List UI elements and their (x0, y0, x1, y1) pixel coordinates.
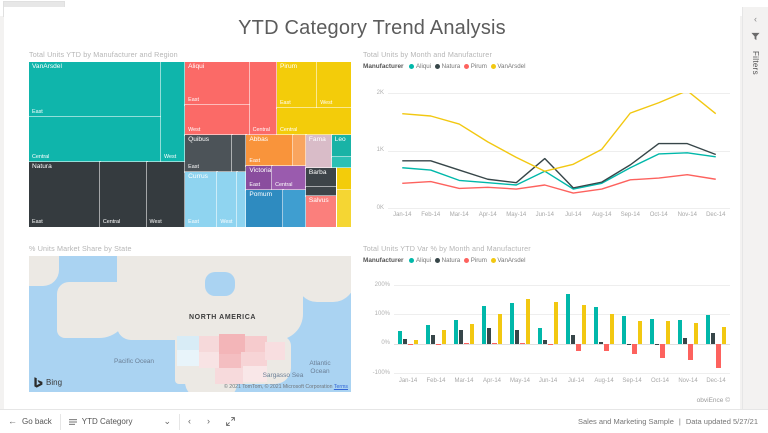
treemap-cell-label: Salvus (309, 197, 329, 205)
legend-color-swatch (491, 64, 496, 69)
bing-icon (34, 377, 43, 388)
treemap-cell[interactable]: Central (29, 117, 161, 162)
bar-pirum[interactable] (492, 343, 496, 344)
bar-vanarsdel[interactable] (470, 324, 474, 344)
x-axis-tick-label: Dec-14 (700, 211, 732, 219)
map-label-pacific: Pacific Ocean (113, 358, 155, 366)
bar-chart-legend[interactable]: ManufacturerAliquiNaturaPirumVanArsdel (363, 257, 525, 264)
legend-label: Natura (442, 257, 461, 264)
y-axis-tick-label: 0K (362, 205, 384, 212)
legend-title: Manufacturer (363, 257, 403, 264)
bing-label: Bing (46, 378, 62, 387)
bar-natura[interactable] (571, 335, 575, 344)
bar-vanarsdel[interactable] (722, 327, 726, 343)
page-selector[interactable]: YTD Category ⌄ (61, 410, 179, 433)
treemap-cell-region: West (164, 154, 176, 161)
bar-pirum[interactable] (632, 344, 636, 354)
line-chart-plot-area: 0K1K2KJan-14Feb-14Mar-14Apr-14May-14Jun-… (388, 93, 730, 208)
x-axis-tick-label: Dec-14 (700, 377, 732, 385)
treemap-cell[interactable]: West (217, 172, 236, 227)
y-axis-tick-label: -100% (362, 370, 390, 377)
treemap-cell-region: Central (280, 127, 297, 134)
treemap-cell-region: East (32, 109, 43, 116)
bar-pirum[interactable] (576, 344, 580, 351)
line-series-group (388, 93, 730, 208)
legend-title: Manufacturer (363, 63, 403, 70)
treemap-cell-region: Central (103, 219, 120, 226)
x-axis-tick-label: Nov-14 (671, 211, 703, 219)
page-icon (69, 418, 77, 426)
legend-item[interactable]: VanArsdel (491, 257, 526, 264)
visual-line-chart[interactable]: Total Units by Month and Manufacturer Ma… (360, 47, 738, 233)
map-label-sargasso: Sargasso Sea (261, 372, 305, 380)
treemap-cell[interactable] (237, 172, 247, 227)
visual-map[interactable]: % Units Market Share by State (26, 241, 356, 396)
treemap-cell[interactable]: West (147, 162, 186, 227)
legend-color-swatch (464, 258, 469, 263)
map-attribution-text: © 2021 TomTom, © 2021 Microsoft Corporat… (224, 384, 332, 390)
treemap-cell[interactable]: West (161, 62, 185, 162)
bar-pirum[interactable] (520, 343, 524, 344)
state-shade[interactable] (219, 334, 245, 354)
treemap-cell-region: Central (32, 154, 49, 161)
bar-aliqui[interactable] (566, 294, 570, 344)
bar-aliqui[interactable] (678, 320, 682, 343)
x-axis-tick-label: Mar-14 (443, 211, 475, 219)
treemap-cell[interactable]: Central (100, 162, 147, 227)
state-shade[interactable] (199, 352, 219, 368)
legend-color-swatch (409, 258, 414, 263)
treemap-cell[interactable]: NaturaEast (29, 162, 100, 227)
gridline (388, 208, 730, 209)
treemap-cell[interactable]: West (185, 105, 249, 135)
bar-chart-title: Total Units YTD Var % by Month and Manuf… (363, 244, 531, 253)
power-bi-report-window: YTD Category Trend Analysis Total Units … (0, 0, 768, 433)
line-series-vanarsdel (402, 93, 716, 171)
legend-color-swatch (435, 258, 440, 263)
state-shade[interactable] (245, 336, 267, 352)
bar-chart-plot-area: -100%0%100%200%Jan-14Feb-14Mar-14Apr-14M… (394, 285, 730, 373)
treemap-cell-region: West (188, 127, 200, 134)
treemap-cell-region: East (249, 182, 260, 189)
treemap-cell-label: Barba (309, 169, 327, 177)
treemap-cell[interactable]: Leo (332, 135, 351, 157)
treemap-cell[interactable]: AbbasEast (246, 135, 293, 166)
treemap-cell-label: Aliqui (188, 63, 204, 71)
treemap-cell[interactable] (232, 135, 246, 172)
landmass-canada (117, 256, 303, 340)
y-axis-tick-label: 200% (362, 282, 390, 289)
legend-color-swatch (464, 64, 469, 69)
treemap-cell-region: West (220, 219, 232, 226)
bar-vanarsdel[interactable] (526, 299, 530, 343)
legend-item[interactable]: Pirum (464, 63, 487, 70)
zero-axis-line (394, 344, 730, 345)
bar-vanarsdel[interactable] (554, 302, 558, 344)
bing-logo[interactable]: Bing (34, 377, 62, 388)
state-shade[interactable] (265, 342, 285, 360)
treemap-cell-label: Currus (188, 173, 208, 181)
treemap-cell[interactable]: QuibusEast (185, 135, 232, 172)
bar-aliqui[interactable] (706, 315, 710, 343)
bar-natura[interactable] (403, 339, 407, 344)
x-axis-tick-label: Apr-14 (472, 211, 504, 219)
treemap-cell[interactable] (332, 157, 351, 168)
treemap-cell[interactable]: Salvus (306, 196, 337, 227)
y-axis-tick-label: 2K (362, 90, 384, 97)
treemap-cell[interactable] (283, 190, 306, 227)
treemap-cell-region: West (150, 219, 162, 226)
legend-item[interactable]: Pirum (464, 257, 487, 264)
bar-aliqui[interactable] (482, 306, 486, 343)
report-name-label: Sales and Marketing Sample (578, 417, 674, 426)
focus-mode-icon (226, 417, 235, 426)
go-back-label: Go back (22, 417, 52, 426)
legend-color-swatch (491, 258, 496, 263)
treemap-cell[interactable]: Central (277, 108, 351, 135)
bar-natura[interactable] (711, 333, 715, 344)
treemap-cell[interactable]: Fama (306, 135, 332, 168)
next-page-button[interactable]: › (199, 410, 218, 433)
treemap-cell-region: East (188, 219, 199, 226)
treemap-cell-label: Abbas (249, 136, 268, 144)
treemap-cell[interactable] (337, 190, 351, 227)
treemap-cell[interactable] (337, 168, 351, 190)
x-axis-tick-label: Aug-14 (586, 211, 618, 219)
treemap-cell-label: Pomum (249, 191, 272, 199)
legend-item[interactable]: Natura (435, 257, 460, 264)
treemap-cell-region: East (249, 158, 260, 165)
legend-label: Pirum (471, 257, 487, 264)
treemap-cell-label: Pirum (280, 63, 297, 71)
state-shade[interactable] (177, 336, 199, 350)
chevron-right-icon: › (207, 417, 210, 426)
treemap-cell[interactable] (306, 187, 337, 197)
bar-natura[interactable] (487, 328, 491, 344)
x-axis-tick-label: Sep-14 (614, 211, 646, 219)
y-axis-tick-label: 1K (362, 147, 384, 154)
bar-natura[interactable] (543, 340, 547, 343)
x-axis-tick-label: Jun-14 (529, 211, 561, 219)
bar-vanarsdel[interactable] (582, 305, 586, 343)
bar-pirum[interactable] (408, 344, 412, 346)
bar-aliqui[interactable] (622, 316, 626, 344)
bar-natura[interactable] (599, 342, 603, 344)
landmass-alaska (57, 282, 129, 338)
bar-aliqui[interactable] (454, 320, 458, 344)
treemap-title: Total Units YTD by Manufacturer and Regi… (29, 50, 178, 59)
bar-vanarsdel[interactable] (638, 321, 642, 344)
map-label-atlantic: Atlantic Ocean (299, 360, 341, 376)
legend-color-swatch (435, 64, 440, 69)
x-axis-tick-label: Jul-14 (557, 211, 589, 219)
map-plot[interactable]: NORTH AMERICA Pacific Ocean Atlantic Oce… (29, 256, 351, 392)
landmass-greenland (297, 256, 351, 302)
legend-label: Aliqui (416, 257, 431, 264)
bar-pirum[interactable] (688, 344, 692, 360)
bar-pirum[interactable] (464, 343, 468, 344)
bar-vanarsdel[interactable] (694, 323, 698, 344)
visual-bar-chart[interactable]: Total Units YTD Var % by Month and Manuf… (360, 241, 738, 396)
gridline (394, 314, 730, 315)
previous-page-button[interactable]: ‹ (180, 410, 199, 433)
bar-natura[interactable] (627, 344, 631, 345)
bar-pirum[interactable] (660, 344, 664, 358)
treemap-cell-label: Victoria (249, 167, 271, 175)
bar-vanarsdel[interactable] (610, 314, 614, 344)
treemap-cell-label: Quibus (188, 136, 209, 144)
bar-aliqui[interactable] (426, 325, 430, 344)
treemap-cell[interactable]: Central (250, 62, 277, 135)
map-title: % Units Market Share by State (29, 244, 132, 253)
state-shade[interactable] (177, 350, 199, 366)
visual-treemap[interactable]: Total Units YTD by Manufacturer and Regi… (26, 47, 356, 233)
legend-item[interactable]: Aliqui (409, 63, 431, 70)
legend-label: VanArsdel (497, 257, 525, 264)
treemap-cell-region: East (188, 97, 199, 104)
chevron-down-icon[interactable]: ⌄ (163, 417, 171, 426)
bar-natura[interactable] (683, 338, 687, 344)
treemap-cell-region: Central (275, 182, 292, 189)
map-terms-link[interactable]: Terms (334, 384, 348, 390)
treemap-cell[interactable] (293, 135, 306, 166)
bar-natura[interactable] (515, 330, 519, 344)
bar-natura[interactable] (431, 335, 435, 344)
divider-label: | (679, 417, 681, 426)
data-updated-label: Data updated 5/27/21 (686, 417, 758, 426)
bar-aliqui[interactable] (398, 331, 402, 343)
bar-natura[interactable] (655, 344, 659, 345)
legend-label: VanArsdel (497, 63, 525, 70)
treemap-cell[interactable]: Pomum (246, 190, 283, 227)
filter-icon[interactable] (751, 32, 760, 41)
treemap-cell[interactable]: CurrusEast (185, 172, 217, 227)
page-name-label: YTD Category (82, 417, 133, 426)
bar-aliqui[interactable] (510, 303, 514, 343)
legend-item[interactable]: Natura (435, 63, 460, 70)
bar-aliqui[interactable] (538, 328, 542, 344)
treemap-cell[interactable]: AliquiEast (185, 62, 249, 105)
state-shade[interactable] (215, 368, 243, 384)
bar-vanarsdel[interactable] (666, 321, 670, 343)
chevron-left-icon[interactable]: ‹ (754, 15, 757, 24)
legend-color-swatch (409, 64, 414, 69)
treemap-cell-label: Leo (335, 136, 346, 144)
treemap-cell-region: Central (253, 127, 270, 134)
bar-vanarsdel[interactable] (442, 330, 446, 343)
x-axis-tick-label: Oct-14 (643, 211, 675, 219)
map-label-continent: NORTH AMERICA (189, 314, 256, 322)
x-axis-tick-label: Feb-14 (415, 211, 447, 219)
treemap-plot[interactable]: VanArsdelEastCentralWestNaturaEastCentra… (29, 62, 351, 227)
legend-label: Natura (442, 63, 461, 70)
treemap-cell[interactable]: Central (272, 166, 306, 190)
treemap-cell[interactable]: VictoriaEast (246, 166, 272, 190)
treemap-cell[interactable]: Barba (306, 168, 337, 186)
water-hudson-bay (205, 272, 235, 296)
treemap-cell-region: East (280, 100, 291, 107)
legend-item[interactable]: Aliqui (409, 257, 431, 264)
go-back-button[interactable]: ← Go back (0, 410, 60, 433)
treemap-cell-region: East (32, 219, 43, 226)
report-canvas: YTD Category Trend Analysis Total Units … (4, 7, 740, 409)
landmass-russia-edge (29, 256, 59, 286)
y-axis-tick-label: 100% (362, 311, 390, 318)
bar-natura[interactable] (459, 330, 463, 343)
page-title: YTD Category Trend Analysis (4, 17, 740, 40)
x-axis-tick-label: May-14 (500, 211, 532, 219)
focus-mode-button[interactable] (218, 410, 243, 433)
treemap-cell[interactable]: PirumEast (277, 62, 317, 108)
filters-pane-collapsed[interactable]: ‹ Filters (742, 7, 768, 409)
watermark: obviEnce © (697, 397, 730, 404)
state-shade[interactable] (199, 336, 219, 352)
bar-aliqui[interactable] (594, 307, 598, 344)
line-series-aliqui (402, 153, 716, 189)
status-bar-right: Sales and Marketing Sample | Data update… (578, 417, 768, 426)
gridline (394, 373, 730, 374)
bar-vanarsdel[interactable] (414, 340, 418, 344)
chevron-left-icon: ‹ (188, 417, 191, 426)
legend-label: Aliqui (416, 63, 431, 70)
line-chart-title: Total Units by Month and Manufacturer (363, 50, 492, 59)
gridline (394, 285, 730, 286)
bar-pirum[interactable] (548, 344, 552, 345)
bar-pirum[interactable] (716, 344, 720, 368)
bar-vanarsdel[interactable] (498, 314, 502, 344)
treemap-cell-label: Fama (309, 136, 326, 144)
line-series-natura (402, 144, 716, 188)
map-attribution: © 2021 TomTom, © 2021 Microsoft Corporat… (224, 384, 348, 390)
bar-pirum[interactable] (436, 344, 440, 345)
bar-pirum[interactable] (604, 344, 608, 351)
treemap-cell-region: East (188, 164, 199, 171)
legend-label: Pirum (471, 63, 487, 70)
treemap-cell-region: West (320, 100, 332, 107)
treemap-cell[interactable]: VanArsdelEast (29, 62, 161, 117)
treemap-cell[interactable]: West (317, 62, 351, 108)
legend-item[interactable]: VanArsdel (491, 63, 526, 70)
filters-pane-label: Filters (751, 51, 760, 75)
x-axis-tick-label: Jan-14 (386, 211, 418, 219)
treemap-cell-label: Natura (32, 163, 52, 171)
treemap-cell-label: VanArsdel (32, 63, 62, 71)
line-chart-legend[interactable]: ManufacturerAliquiNaturaPirumVanArsdel (363, 63, 525, 70)
y-axis-tick-label: 0% (362, 340, 390, 347)
bar-aliqui[interactable] (650, 319, 654, 344)
status-bar: ← Go back YTD Category ⌄ ‹ › Sa (0, 409, 768, 433)
arrow-left-icon: ← (8, 417, 17, 426)
